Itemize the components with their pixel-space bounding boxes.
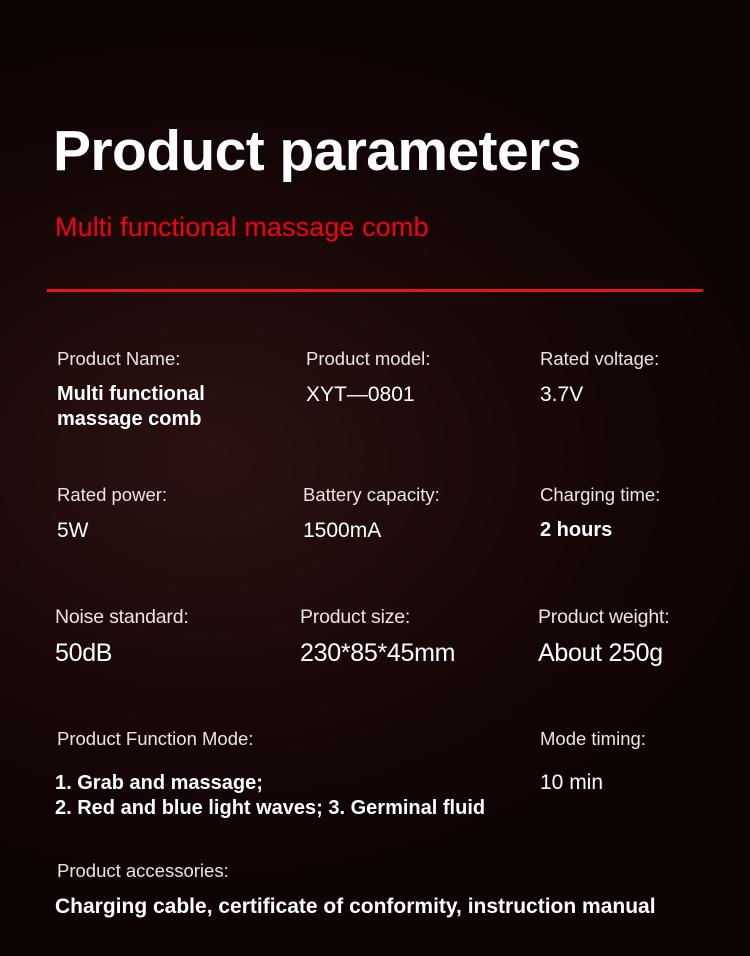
spec-value: 2 hours (540, 518, 660, 542)
function-mode-label: Product Function Mode: (57, 728, 253, 750)
accessories-value: Charging cable, certificate of conformit… (55, 895, 656, 919)
spec-cell: Product model: XYT—0801 (306, 348, 430, 408)
spec-label: Product model: (306, 348, 430, 370)
spec-label: Rated power: (57, 484, 167, 506)
spec-value: About 250g (538, 638, 669, 669)
spec-value: 50dB (55, 638, 189, 669)
spec-label: Noise standard: (55, 606, 189, 629)
spec-cell: Rated power: 5W (57, 484, 167, 544)
spec-value: Multi functional massage comb (57, 382, 267, 431)
spec-label: Product Name: (57, 348, 267, 370)
mode-timing-value: 10 min (540, 771, 603, 795)
spec-label: Product weight: (538, 606, 669, 629)
function-mode-list: 1. Grab and massage; 2. Red and blue lig… (55, 771, 485, 821)
page-title: Product parameters (53, 122, 581, 182)
spec-value: 1500mA (303, 518, 440, 544)
mode-timing-label: Mode timing: (540, 728, 646, 750)
spec-cell: Rated voltage: 3.7V (540, 348, 659, 408)
function-mode-item: 1. Grab and massage; (55, 771, 485, 796)
spec-label: Battery capacity: (303, 484, 440, 506)
spec-cell: Product weight: About 250g (538, 606, 669, 669)
spec-value: XYT—0801 (306, 382, 430, 408)
title-divider (47, 289, 703, 292)
spec-cell: Noise standard: 50dB (55, 606, 189, 669)
spec-cell: Battery capacity: 1500mA (303, 484, 440, 544)
spec-value: 230*85*45mm (300, 638, 455, 669)
product-parameters-page: Product parameters Multi functional mass… (0, 0, 750, 956)
spec-cell: Product size: 230*85*45mm (300, 606, 455, 669)
spec-value: 5W (57, 518, 167, 544)
spec-cell: Charging time: 2 hours (540, 484, 660, 543)
spec-value: 3.7V (540, 382, 659, 408)
accessories-label: Product accessories: (57, 860, 229, 882)
function-mode-item: 2. Red and blue light waves; 3. Germinal… (55, 796, 485, 821)
spec-label: Product size: (300, 606, 455, 629)
page-subtitle: Multi functional massage comb (55, 212, 429, 243)
spec-label: Charging time: (540, 484, 660, 506)
spec-cell: Product Name: Multi functional massage c… (57, 348, 267, 431)
spec-label: Rated voltage: (540, 348, 659, 370)
